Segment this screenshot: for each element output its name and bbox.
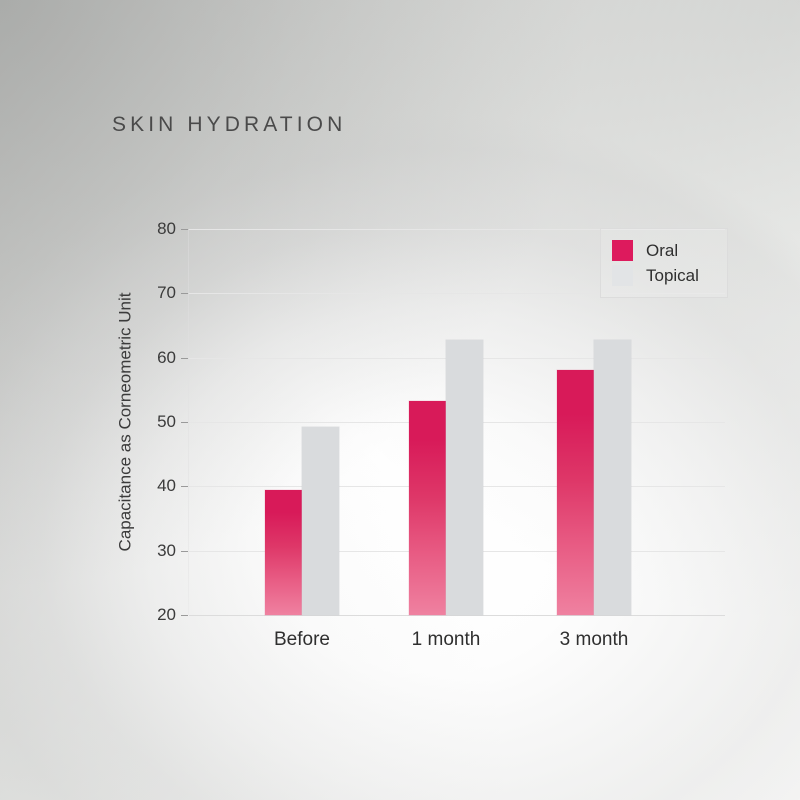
bar-topical-3-month[interactable] [594,340,631,615]
y-axis-title-text: Capacitance as Corneometric Unit [115,293,135,552]
tick-mark [181,615,188,616]
y-axis-tick-label: 20 [157,605,176,625]
tick-mark [181,551,188,552]
x-axis-tick-label: Before [274,629,330,651]
bar-topical-1-month[interactable] [446,340,483,615]
y-axis-tick-label: 70 [157,283,176,303]
y-axis-tick-label: 80 [157,219,176,239]
legend-item-oral[interactable]: Oral [612,238,717,263]
gridline [189,615,725,616]
chart-legend: Oral Topical [600,228,728,298]
tick-mark [181,486,188,487]
tick-mark [181,358,188,359]
legend-label-topical: Topical [646,267,699,284]
tick-mark [181,229,188,230]
bar-topical-before[interactable] [302,427,339,615]
legend-swatch-oral-icon [612,240,633,261]
y-axis-title: Capacitance as Corneometric Unit [113,229,137,615]
y-axis-tick-label: 40 [157,476,176,496]
x-axis-tick-label: 1 month [412,629,481,651]
y-axis-tick-label: 50 [157,412,176,432]
legend-item-topical[interactable]: Topical [612,263,717,288]
y-axis-tick-label: 60 [157,348,176,368]
legend-label-oral: Oral [646,242,678,259]
bar-oral-before[interactable] [265,490,302,615]
page-title: SKIN HYDRATION [112,113,346,137]
tick-mark [181,422,188,423]
tick-mark [181,293,188,294]
x-axis-tick-label: 3 month [560,629,629,651]
chart-canvas: SKIN HYDRATION Capacitance as Corneometr… [0,0,800,800]
bar-oral-1-month[interactable] [409,401,446,615]
legend-swatch-topical-icon [612,265,633,286]
bar-oral-3-month[interactable] [557,370,594,615]
y-axis-tick-label: 30 [157,541,176,561]
